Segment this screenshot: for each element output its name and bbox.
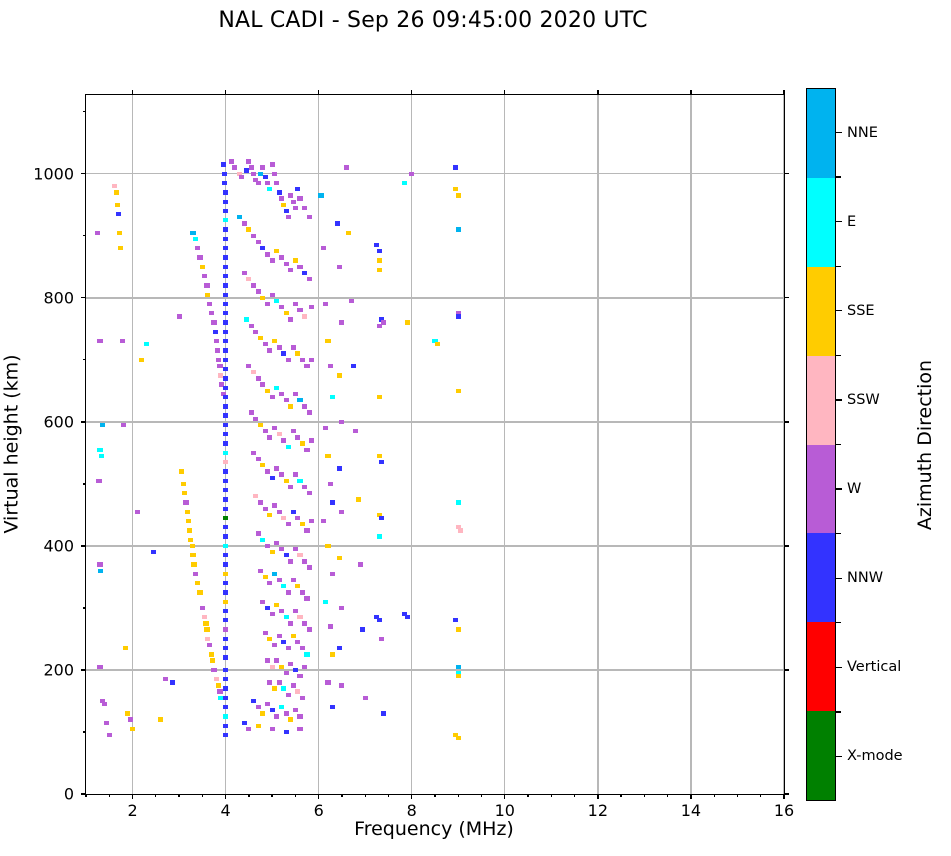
data-point [223,358,228,362]
x-minor-tick [714,794,715,797]
data-point [223,330,228,334]
data-point [191,562,196,566]
data-point [291,634,296,638]
data-point [256,705,261,709]
data-point [263,575,268,579]
data-point [274,249,279,253]
data-point [323,302,328,306]
x-tick [225,794,226,799]
data-point [291,345,296,349]
data-point [217,364,222,368]
y-minor-tick [83,731,86,732]
colorbar-label-nne: NNE [847,125,878,141]
data-point [295,435,300,439]
data-point [223,553,228,557]
data-point [302,271,307,275]
data-point [270,293,275,297]
data-point [267,680,272,684]
data-point [402,181,407,185]
data-point [295,584,300,588]
y-tick [784,421,789,422]
data-point [279,472,284,476]
data-point [205,637,210,641]
figure-title: NAL CADI - Sep 26 09:45:00 2020 UTC [0,8,866,33]
data-point [309,305,314,309]
data-point [339,683,344,687]
data-point [325,544,330,548]
data-point [300,696,305,700]
data-point [288,485,293,489]
data-point [223,525,228,529]
data-point [295,187,300,191]
data-point [325,339,330,343]
colorbar-segment-nne [807,89,835,178]
x-minor-tick [178,794,179,797]
data-point [223,339,228,343]
y-minor-tick [83,235,86,236]
data-point [190,544,195,548]
data-point [107,733,112,737]
data-point [260,711,265,715]
data-point [286,646,291,650]
data-point [265,302,270,306]
data-point [223,479,228,483]
data-point [405,320,410,324]
colorbar [806,88,836,801]
data-point [223,246,228,250]
data-point [284,479,289,483]
y-tick [784,173,789,174]
data-point [267,435,272,439]
y-tick [81,173,86,174]
data-point [260,246,265,250]
plot-data-area [86,95,784,794]
data-point [246,364,251,368]
data-point [223,562,228,566]
colorbar-boundary-tick [836,444,841,445]
data-point [304,596,309,600]
data-point [144,342,149,346]
y-axis-title: Virtual height (km) [0,94,26,793]
data-point [223,311,228,315]
colorbar-label-vertical: Vertical [847,659,901,675]
data-point [244,317,249,321]
y-tick [81,297,86,298]
y-tick [784,545,789,546]
x-gridline [690,95,691,794]
data-point [456,227,461,231]
data-point [274,658,279,662]
data-point [309,358,314,362]
data-point [222,172,227,176]
data-point [249,165,254,169]
data-point [288,621,293,625]
data-point [102,702,107,706]
x-minor-tick [620,794,621,797]
data-point [223,441,228,445]
data-point [190,553,195,557]
data-point [222,181,227,185]
data-point [97,448,102,452]
data-point [277,634,282,638]
data-point [288,317,293,321]
y-gridline [86,173,784,174]
data-point [277,190,282,194]
data-point [458,528,463,532]
data-point [223,237,228,241]
data-point [456,674,461,678]
colorbar-boundary-tick [836,176,841,177]
data-point [253,417,258,421]
data-point [193,237,198,241]
data-point [223,696,228,700]
y-gridline [86,297,784,298]
data-point [256,457,261,461]
data-point [272,686,277,690]
data-point [330,500,335,504]
y-tick [81,793,86,794]
data-point [272,643,277,647]
data-point [223,190,228,194]
data-point [260,165,265,169]
data-point [377,268,382,272]
data-point [223,609,228,613]
x-minor-tick [667,794,668,797]
data-point [204,283,209,287]
x-minor-tick [248,794,249,797]
y-minor-tick [83,483,86,484]
data-point [302,314,307,318]
data-point [300,358,305,362]
data-point [214,339,219,343]
colorbar-tick [836,132,842,133]
data-point [286,215,291,219]
data-point [339,420,344,424]
y-gridline [86,421,784,422]
data-point [297,265,302,269]
data-point [265,658,270,662]
colorbar-segment-e [807,178,835,267]
data-point [286,445,291,449]
data-point [223,209,228,213]
data-point [210,658,215,662]
data-point [330,395,335,399]
data-point [251,283,256,287]
data-point [223,274,228,278]
data-point [297,615,302,619]
data-point [253,494,258,498]
data-point [251,370,256,374]
data-point [456,314,461,318]
data-point [260,463,265,467]
data-point [356,497,361,501]
data-point [256,376,261,380]
data-point [279,609,284,613]
data-point [351,364,356,368]
data-point [309,438,314,442]
data-point [98,569,103,573]
data-point [300,441,305,445]
data-point [274,603,279,607]
data-point [291,200,296,204]
data-point [325,680,330,684]
colorbar-boundary-tick [836,266,841,267]
data-point [281,686,286,690]
y-tick-label: 400 [43,536,74,555]
x-tick [411,90,412,95]
data-point [267,187,272,191]
data-point [97,562,102,566]
colorbar-boundary-tick [836,533,841,534]
data-point [377,249,382,253]
data-point [177,314,182,318]
data-point [281,351,286,355]
data-point [323,600,328,604]
y-tick-label: 1000 [33,164,74,183]
data-point [381,320,386,324]
data-point [205,293,210,297]
data-point [256,240,261,244]
data-point [291,429,296,433]
data-point [291,510,296,514]
colorbar-boundary-tick [836,711,841,712]
data-point [117,231,122,235]
data-point [263,631,268,635]
data-point [291,683,296,687]
y-minor-tick [83,359,86,360]
data-point [223,618,228,622]
x-minor-tick [202,794,203,797]
data-point [112,184,117,188]
data-point [274,181,279,185]
x-tick [504,90,505,95]
data-point [193,572,198,576]
data-point [295,516,300,520]
data-point [288,662,293,666]
data-point [267,513,272,517]
data-point [293,206,298,210]
data-point [277,578,282,582]
x-minor-tick [527,794,528,797]
data-point [377,324,382,328]
y-tick-label: 0 [64,785,74,804]
colorbar-title-text: Azimuth Direction [914,359,936,529]
data-point [288,193,293,197]
x-minor-tick [109,794,110,797]
data-point [291,578,296,582]
data-point [251,699,256,703]
data-point [302,206,307,210]
data-point [374,243,379,247]
data-point [260,600,265,604]
data-point [288,717,293,721]
x-tick [597,90,598,95]
data-point [223,386,228,390]
colorbar-label-x-mode: X-mode [847,748,903,764]
data-point [339,606,344,610]
data-point [239,175,244,179]
colorbar-segment-x-mode [807,711,835,800]
data-point [270,708,275,712]
data-point [328,624,333,628]
data-point [186,519,191,523]
y-tick [81,421,86,422]
data-point [116,212,121,216]
data-point [346,231,351,235]
data-point [279,196,284,200]
data-point [377,534,382,538]
x-minor-tick [574,794,575,797]
x-gridline [783,95,784,794]
data-point [349,299,354,303]
data-point [272,339,277,343]
data-point [223,283,228,287]
data-point [223,581,228,585]
x-tick [225,90,226,95]
data-point [405,615,410,619]
colorbar-segment-w [807,445,835,534]
data-point [223,733,228,737]
data-point [214,677,219,681]
x-minor-tick [434,794,435,797]
data-point [223,404,228,408]
data-point [337,646,342,650]
data-point [246,159,251,163]
data-point [277,345,282,349]
data-point [151,550,156,554]
data-point [281,640,286,644]
data-point [209,311,214,315]
data-point [121,423,126,427]
data-point [128,717,133,721]
data-point [223,590,228,594]
x-minor-tick [458,794,459,797]
data-point [213,330,218,334]
y-minor-tick [83,111,86,112]
data-point [104,721,109,725]
x-minor-tick [388,794,389,797]
data-point [293,609,298,613]
data-point [293,472,298,476]
x-gridline [504,95,505,794]
colorbar-tick [836,221,842,222]
data-point [125,711,130,715]
data-point [223,395,228,399]
data-point [187,528,192,532]
data-point [223,320,228,324]
data-point [260,296,265,300]
data-point [337,466,342,470]
data-point [223,655,228,659]
data-point [377,454,382,458]
data-point [272,503,277,507]
data-point [307,410,312,414]
data-point [246,727,251,731]
colorbar-tick [836,310,842,311]
colorbar-tick [836,488,842,489]
data-point [281,584,286,588]
data-point [258,500,263,504]
data-point [267,581,272,585]
data-point [202,274,207,278]
plot-axes: 24681012141602004006008001000 [85,94,785,795]
data-point [304,448,309,452]
data-point [223,265,228,269]
x-tick [783,90,784,95]
data-point [260,538,265,542]
colorbar-label-sse: SSE [847,303,875,319]
data-point [288,559,293,563]
data-point [223,637,228,641]
y-tick [784,793,789,794]
x-minor-tick [295,794,296,797]
data-point [337,373,342,377]
data-point [281,516,286,520]
x-gridline [132,95,133,794]
data-point [99,454,104,458]
data-point [256,181,261,185]
x-tick [411,794,412,799]
data-point [456,500,461,504]
data-point [293,668,298,672]
data-point [272,426,277,430]
x-axis-title: Frequency (MHz) [85,818,783,840]
data-point [325,454,330,458]
x-gridline [597,95,598,794]
data-point [223,227,228,231]
data-point [249,324,254,328]
data-point [190,231,195,235]
data-point [256,531,261,535]
data-point [223,200,228,204]
data-point [256,724,261,728]
x-tick [690,90,691,95]
data-point [182,491,187,495]
data-point [453,165,458,169]
data-point [363,696,368,700]
data-point [286,358,291,362]
data-point [297,674,302,678]
data-point [274,386,279,390]
data-point [242,271,247,275]
x-minor-tick [271,794,272,797]
data-point [297,308,302,312]
data-point [409,172,414,176]
data-point [304,528,309,532]
data-point [158,717,163,721]
data-point [223,348,228,352]
data-point [284,615,289,619]
data-point [200,606,205,610]
data-point [197,590,202,594]
data-point [223,497,228,501]
data-point [379,460,384,464]
colorbar-segment-sse [807,267,835,356]
colorbar-label-ssw: SSW [847,392,880,408]
data-point [258,336,263,340]
data-point [270,162,275,166]
data-point [360,627,365,631]
data-point [293,258,298,262]
data-point [263,342,268,346]
data-point [307,277,312,281]
data-point [223,451,228,455]
data-point [297,479,302,483]
data-point [304,364,309,368]
data-point [223,423,228,427]
data-point [297,714,302,718]
data-point [300,646,305,650]
